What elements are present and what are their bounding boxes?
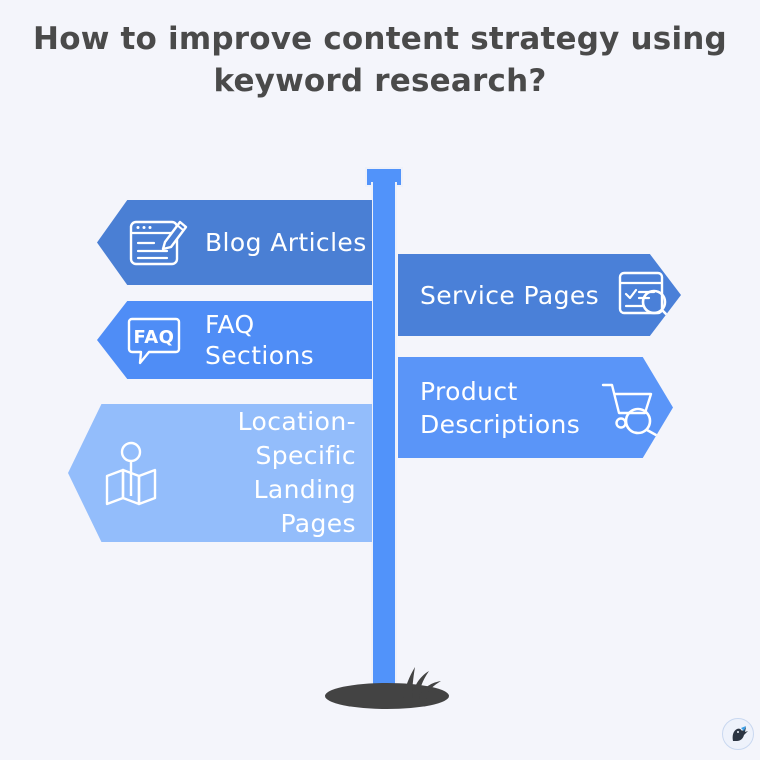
signpost-pole xyxy=(371,182,397,692)
sign-product-descriptions-label: Product Descriptions xyxy=(420,375,580,441)
grass-tuft-icon xyxy=(395,665,445,699)
sign-location-specific-landing-pages[interactable]: Location- Specific Landing Pages xyxy=(68,404,372,542)
map-pin-icon xyxy=(100,438,162,508)
page-title-line-1: How to improve content strategy using xyxy=(0,18,760,60)
sign-blog-articles-label: Blog Articles xyxy=(205,227,367,258)
brand-logo[interactable] xyxy=(722,718,754,750)
sign-blog-articles[interactable]: Blog Articles xyxy=(97,200,372,285)
faq-speech-bubble-icon: FAQ xyxy=(127,313,183,367)
sign-service-pages[interactable]: Service Pages xyxy=(398,254,681,336)
page-title-line-2: keyword research? xyxy=(0,60,760,102)
sign-faq-sections-label: FAQ Sections xyxy=(205,309,372,371)
browser-search-icon xyxy=(617,269,673,321)
infographic-canvas: How to improve content strategy using ke… xyxy=(0,0,760,760)
sign-faq-sections[interactable]: FAQ FAQ Sections xyxy=(97,301,372,379)
bird-silhouette-icon xyxy=(727,723,749,745)
faq-icon-text: FAQ xyxy=(134,327,175,348)
cart-search-icon xyxy=(600,379,662,437)
browser-pencil-icon xyxy=(127,214,189,272)
page-title: How to improve content strategy using ke… xyxy=(0,18,760,102)
sign-service-pages-label: Service Pages xyxy=(420,280,599,311)
sign-location-specific-landing-pages-label: Location- Specific Landing Pages xyxy=(176,405,372,541)
sign-product-descriptions[interactable]: Product Descriptions xyxy=(398,357,673,458)
